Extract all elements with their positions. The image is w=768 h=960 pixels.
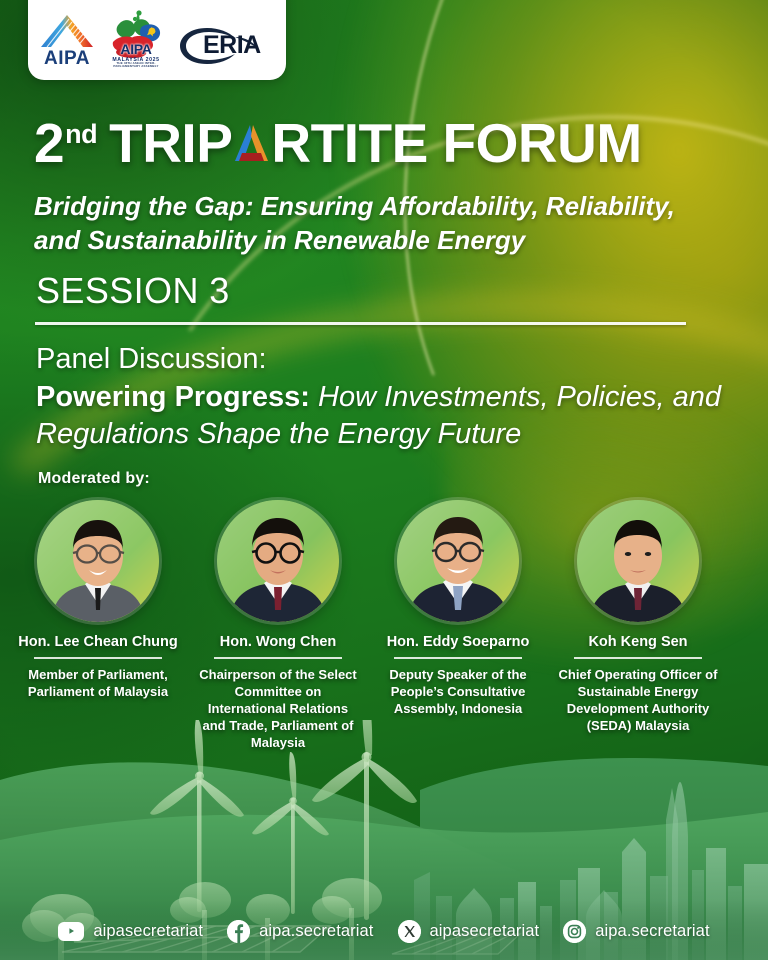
title-number: 2 <box>34 116 64 171</box>
session-label: SESSION 3 <box>36 270 230 312</box>
social-handle: aipasecretariat <box>430 922 540 941</box>
aipa-logo: AIPA <box>39 14 95 68</box>
panelist-card: Hon. Eddy Soeparno Deputy Speaker of the… <box>368 500 548 751</box>
social-handle: aipa.secretariat <box>259 922 373 941</box>
tripartite-a-logo-icon <box>233 123 270 163</box>
poster-root: AIPA AIPA MALAYSIA 2025 THE 46TH ASEAN I… <box>0 0 768 960</box>
panelist-name: Koh Keng Sen <box>588 634 687 655</box>
panelist-list: Hon. Lee Chean Chung Member of Parliamen… <box>0 500 768 751</box>
facebook-icon <box>227 920 250 943</box>
social-handle: aipa.secretariat <box>595 922 709 941</box>
logo-bar: AIPA AIPA MALAYSIA 2025 THE 46TH ASEAN I… <box>28 0 286 80</box>
panelist-name: Hon. Lee Chean Chung <box>18 634 178 655</box>
instagram-icon <box>563 920 586 943</box>
title-word-pre: TRIP <box>109 112 232 174</box>
avatar <box>37 500 159 622</box>
panel-discussion-label: Panel Discussion: <box>36 343 267 376</box>
social-link-x[interactable]: aipasecretariat <box>386 920 552 943</box>
social-link-youtube[interactable]: aipasecretariat <box>46 922 215 941</box>
panel-topic: Powering Progress: How Investments, Poli… <box>36 379 742 453</box>
avatar <box>217 500 339 622</box>
avatar <box>397 500 519 622</box>
title-ordinal: nd <box>65 121 97 148</box>
panelist-name-rule <box>214 657 342 659</box>
panelist-name-rule <box>394 657 522 659</box>
x-twitter-icon <box>398 920 421 943</box>
eria-logo: ERIA <box>177 24 275 68</box>
panelist-name: Hon. Wong Chen <box>220 634 337 655</box>
section-divider <box>35 322 686 325</box>
panelist-name: Hon. Eddy Soeparno <box>387 634 530 655</box>
title-word-post: RTITE FORUM <box>271 112 641 174</box>
eria-logo-text: ERIA <box>203 33 261 58</box>
panel-topic-lead: Powering Progress: <box>36 381 310 413</box>
panelist-card: Koh Keng Sen Chief Operating Officer of … <box>548 500 728 751</box>
aipa-malaysia-2025-logo: AIPA MALAYSIA 2025 THE 46TH ASEAN INTER-… <box>105 10 167 68</box>
panelist-card: Hon. Wong Chen Chairperson of the Select… <box>188 500 368 751</box>
panelist-role: Deputy Speaker of the People’s Consultat… <box>378 666 538 717</box>
panelist-card: Hon. Lee Chean Chung Member of Parliamen… <box>8 500 188 751</box>
social-handle: aipasecretariat <box>93 922 203 941</box>
aipa-malaysia-logo-text: AIPA <box>105 42 167 56</box>
panelist-role: Chairperson of the Select Committee on I… <box>198 666 358 752</box>
aipa-logo-text: AIPA <box>44 49 90 68</box>
avatar <box>577 500 699 622</box>
aipa-malaysia-logo-subtext2: THE 46TH ASEAN INTER-PARLIAMENTARY ASSEM… <box>105 62 167 68</box>
aipa-mark-icon <box>39 14 95 48</box>
panelist-role: Chief Operating Officer of Sustainable E… <box>558 666 718 735</box>
moderated-by-label: Moderated by: <box>38 470 150 488</box>
panelist-name-rule <box>574 657 702 659</box>
panelist-name-rule <box>34 657 162 659</box>
social-link-facebook[interactable]: aipa.secretariat <box>215 920 385 943</box>
social-link-instagram[interactable]: aipa.secretariat <box>551 920 721 943</box>
panelist-role: Member of Parliament, Parliament of Mala… <box>18 666 178 700</box>
title-word: TRIPRTITE FORUM <box>109 116 642 171</box>
poster-title: 2nd TRIPRTITE FORUM <box>34 116 642 171</box>
poster-subtitle: Bridging the Gap: Ensuring Affordability… <box>34 190 724 258</box>
social-bar: aipasecretariat aipa.secretariat aipasec… <box>0 902 768 960</box>
youtube-icon <box>58 922 84 941</box>
